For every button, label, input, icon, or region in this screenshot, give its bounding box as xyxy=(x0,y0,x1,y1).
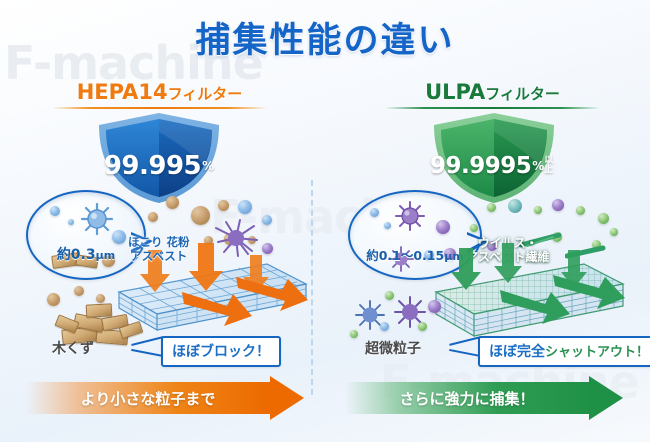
heading-underline xyxy=(385,107,600,109)
column-heading-hepa: HEPA14フィルター xyxy=(52,80,267,109)
particle-dot xyxy=(470,224,478,232)
wood-pile-illustration xyxy=(52,300,144,344)
callout-part-2: シャットアウト！ xyxy=(545,345,649,360)
particle-label-line-2: アスベスト xyxy=(128,250,190,264)
particle-dot xyxy=(552,199,564,211)
shield-unit-hepa: % xyxy=(202,159,214,173)
particle-dot xyxy=(191,206,210,225)
particle-dot xyxy=(148,212,158,222)
particle-dot xyxy=(50,206,60,216)
bubble-label-hepa: 約0.3μm xyxy=(28,244,144,264)
shield-number-ulpa: 99.9995 xyxy=(430,153,531,179)
particle-dot xyxy=(380,322,389,331)
down-arrow-icon xyxy=(451,248,481,290)
banner-text-hepa: より小さな粒子まで xyxy=(26,382,304,414)
bubble-size-hepa: 約0.3 xyxy=(57,247,96,263)
particle-dot xyxy=(262,215,272,225)
down-arrow-icon xyxy=(189,243,223,291)
heading-main-hepa: HEPA14 xyxy=(77,80,168,104)
particle-dot xyxy=(262,243,273,254)
particle-dot xyxy=(112,230,126,244)
particle-dot xyxy=(508,199,522,213)
particle-dot xyxy=(68,219,74,225)
particle-dot xyxy=(418,322,427,331)
particle-dot xyxy=(384,222,391,229)
particle-dot xyxy=(576,206,585,215)
shield-number-hepa: 99.995 xyxy=(104,151,201,181)
bubble-size-ulpa: 約0.1〜0.15 xyxy=(366,248,444,263)
particle-dot xyxy=(598,213,609,224)
particle-type-label-hepa: ほこり 花粉 アスベスト xyxy=(128,236,190,263)
virus-particle-icon xyxy=(394,200,426,232)
particle-dot xyxy=(487,203,496,212)
callout-leader-line xyxy=(131,349,164,357)
page-title: 捕集性能の違い xyxy=(0,12,650,63)
particle-dot xyxy=(218,200,229,211)
particle-dot xyxy=(350,330,358,338)
mesh-label-hepa: 木くず xyxy=(52,341,94,358)
particle-dot xyxy=(74,286,84,296)
heading-sub-ulpa: フィルター xyxy=(485,85,560,103)
mesh-label-ulpa: 超微粒子 xyxy=(365,341,421,358)
shield-badge-ulpa: 99.9995%以上 xyxy=(430,112,558,204)
callout-part-1: ほぼ完全 xyxy=(489,344,545,360)
heading-main-ulpa: ULPA xyxy=(425,80,485,104)
heading-underline xyxy=(52,107,267,109)
bubble-unit-hepa: μm xyxy=(96,249,116,262)
bottom-banner-hepa: より小さな粒子まで xyxy=(26,376,304,420)
column-divider xyxy=(311,180,313,395)
heading-sub-hepa: フィルター xyxy=(168,85,243,103)
particle-dot xyxy=(166,196,179,209)
through-arrow-icon xyxy=(553,272,625,312)
particle-label-line-1: ほこり 花粉 xyxy=(128,236,190,250)
particle-dot xyxy=(534,206,542,214)
callout-box-hepa: ほぼブロック！ xyxy=(161,336,281,367)
shield-badge-hepa: 99.995% xyxy=(95,112,223,204)
spiky-particle-icon xyxy=(80,202,114,236)
shield-unit-ulpa: % xyxy=(532,159,544,173)
particle-dot xyxy=(47,293,60,306)
particle-dot xyxy=(238,200,252,214)
callout-box-ulpa: ほぼ完全シャットアウト！ xyxy=(478,336,650,367)
shield-suffix-ulpa: 以上 xyxy=(544,157,558,175)
down-arrow-icon xyxy=(494,243,522,283)
particle-dot xyxy=(96,294,105,303)
column-heading-ulpa: ULPAフィルター xyxy=(385,80,600,109)
infographic-canvas: F-machine F-machine F-machine 捕集性能の違い HE… xyxy=(0,0,650,442)
through-arrow-icon xyxy=(236,274,308,314)
particle-dot xyxy=(370,208,379,217)
callout-leader-line xyxy=(449,349,481,357)
particle-dot xyxy=(385,291,394,300)
particle-dot xyxy=(610,228,618,236)
bottom-banner-ulpa: さらに強力に捕集！ xyxy=(345,376,623,420)
banner-text-ulpa: さらに強力に捕集！ xyxy=(345,382,623,414)
wood-chip xyxy=(86,303,113,317)
particle-dot xyxy=(428,300,441,313)
particle-dot xyxy=(436,220,450,234)
